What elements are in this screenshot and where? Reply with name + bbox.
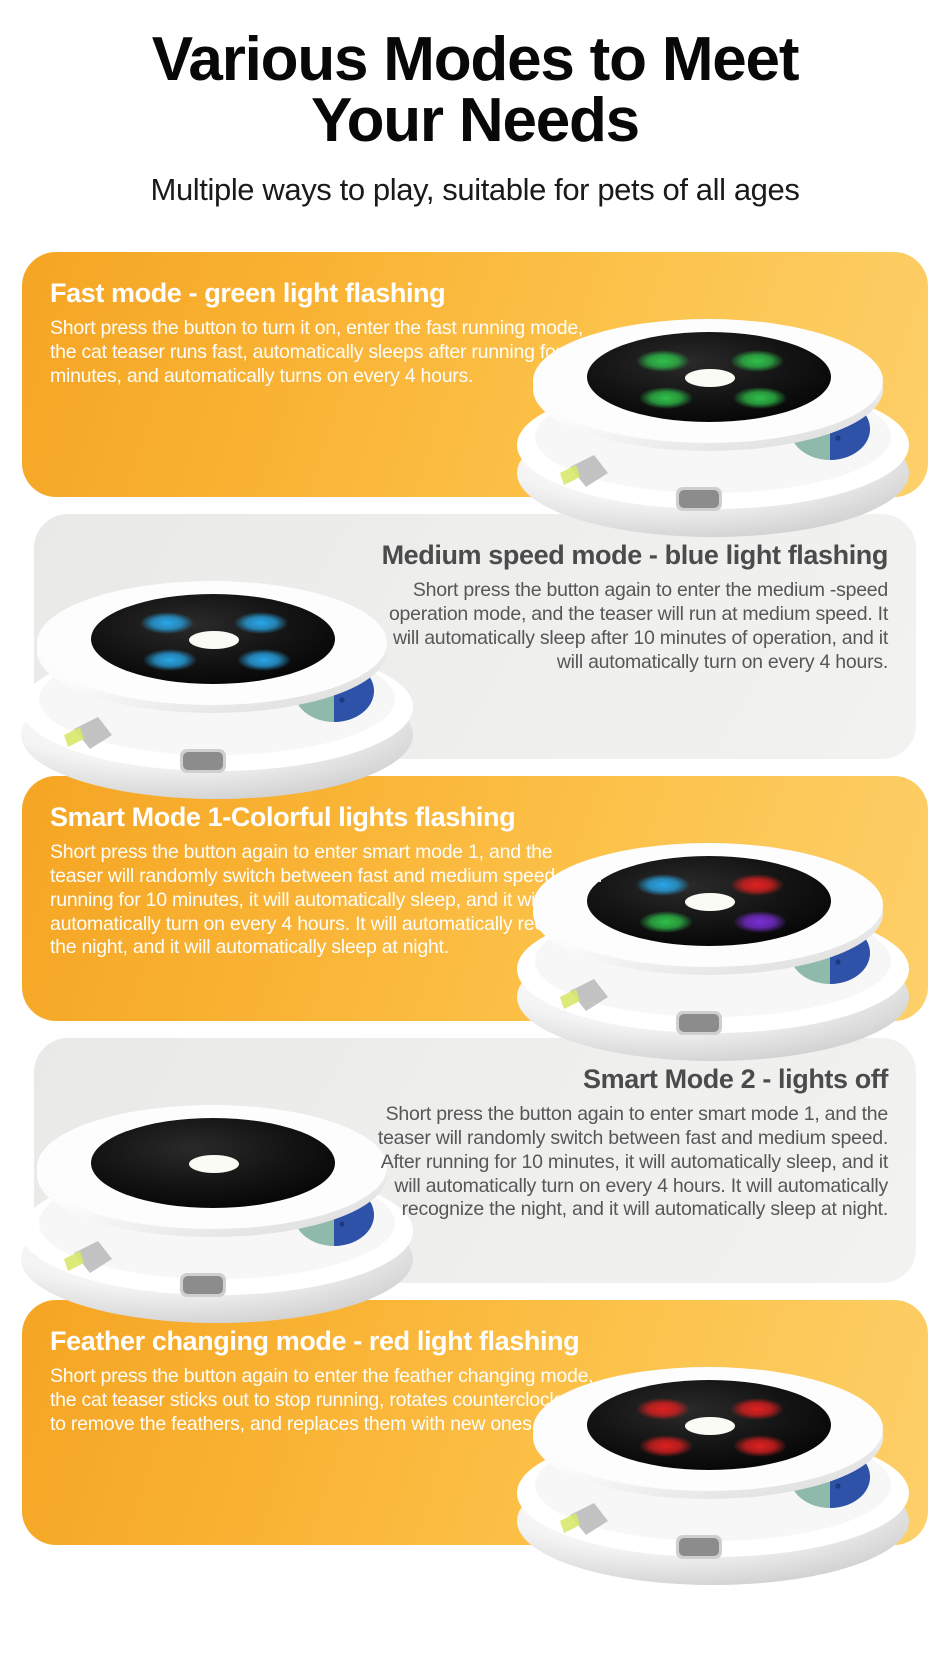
card-title-medium-speed-mode: Medium speed mode - blue light flashing bbox=[368, 540, 888, 572]
card-title-feather-changing-mode: Feather changing mode - red light flashi… bbox=[50, 1326, 610, 1358]
card-title-smart-mode-2: Smart Mode 2 - lights off bbox=[368, 1064, 888, 1096]
card-text-block: Feather changing mode - red light flashi… bbox=[50, 1326, 610, 1437]
card-text-block: Smart Mode 1-Colorful lights flashing Sh… bbox=[50, 802, 610, 961]
card-body-fast-mode: Short press the button to turn it on, en… bbox=[50, 317, 610, 388]
page-title-line1: Various Modes to Meet bbox=[70, 30, 880, 91]
mode-card-smart-mode-1: Smart Mode 1-Colorful lights flashing Sh… bbox=[22, 776, 928, 1021]
mode-card-feather-changing-mode: Feather changing mode - red light flashi… bbox=[22, 1300, 928, 1545]
page-title: Various Modes to Meet Your Needs bbox=[0, 30, 950, 152]
card-title-fast-mode: Fast mode - green light flashing bbox=[50, 278, 610, 310]
mode-cards-list: Fast mode - green light flashing Short p… bbox=[0, 252, 950, 1545]
card-text-block: Medium speed mode - blue light flashing … bbox=[368, 540, 888, 675]
page-header: Various Modes to Meet Your Needs Multipl… bbox=[0, 0, 950, 208]
mode-card-smart-mode-2: Smart Mode 2 - lights off Short press th… bbox=[34, 1038, 916, 1283]
card-text-block: Fast mode - green light flashing Short p… bbox=[50, 278, 610, 389]
card-text-block: Smart Mode 2 - lights off Short press th… bbox=[368, 1064, 888, 1223]
card-title-smart-mode-1: Smart Mode 1-Colorful lights flashing bbox=[50, 802, 610, 834]
card-body-feather-changing-mode: Short press the button again to enter th… bbox=[50, 1365, 610, 1436]
card-body-smart-mode-1: Short press the button again to enter sm… bbox=[50, 841, 610, 960]
infographic-page: Various Modes to Meet Your Needs Multipl… bbox=[0, 0, 950, 1676]
card-body-medium-speed-mode: Short press the button again to enter th… bbox=[368, 579, 888, 674]
card-body-smart-mode-2: Short press the button again to enter sm… bbox=[368, 1103, 888, 1222]
mode-card-fast-mode: Fast mode - green light flashing Short p… bbox=[22, 252, 928, 497]
page-title-line2: Your Needs bbox=[70, 91, 880, 152]
mode-card-medium-speed-mode: Medium speed mode - blue light flashing … bbox=[34, 514, 916, 759]
page-subtitle: Multiple ways to play, suitable for pets… bbox=[0, 172, 950, 208]
